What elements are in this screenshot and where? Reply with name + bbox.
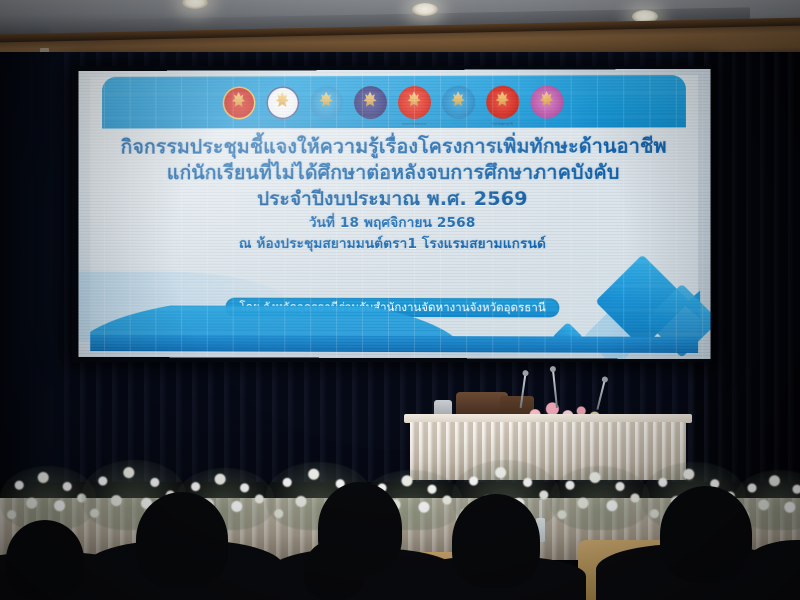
emblem-logo-4-icon <box>354 86 387 119</box>
audience-person-head <box>452 494 540 588</box>
led-screen: กรมการจัดหางาน จังหวัดอุดรธานี กิจกรรมปร… <box>78 69 710 359</box>
emblem-logo-5-caption: กรมการจัดหางาน <box>402 121 427 126</box>
conference-hall-photo: กรมการจัดหางาน จังหวัดอุดรธานี กิจกรรมปร… <box>0 0 800 600</box>
led-screen-frame: กรมการจัดหางาน จังหวัดอุดรธานี กิจกรรมปร… <box>72 66 712 362</box>
audience-person-head <box>304 540 364 600</box>
audience-person-head <box>660 486 752 582</box>
emblem-logo-2-icon <box>266 86 299 119</box>
slide-text-block: กิจกรรมประชุมชี้แจงให้ความรู้เรื่องโครงก… <box>90 133 698 255</box>
slide-title-line-1: กิจกรรมประชุมชี้แจงให้ความรู้เรื่องโครงก… <box>90 133 698 160</box>
audience-person-head <box>136 492 228 588</box>
slide-title-line-3: ประจำปีงบประมาณ พ.ศ. 2569 <box>90 186 698 213</box>
flower-clump <box>550 466 650 530</box>
emblem-logo-8-icon <box>530 85 563 118</box>
slide-wave-bar <box>90 335 698 353</box>
water-bottle-neck <box>539 500 542 520</box>
ceiling-downlight <box>412 3 438 16</box>
ceiling-downlight <box>182 0 208 9</box>
emblem-logo-7-caption: จังหวัดอุดรธานี <box>492 121 513 126</box>
emblem-logo-7-icon: จังหวัดอุดรธานี <box>486 85 519 118</box>
curtain-left-shadow <box>0 52 70 482</box>
emblem-logo-1-icon <box>222 86 255 119</box>
slide-title-line-2: แก่นักเรียนที่ไม่ได้ศึกษาต่อหลังจบการศึก… <box>90 160 698 187</box>
audience-person-head <box>6 520 84 600</box>
presentation-slide: กรมการจัดหางาน จังหวัดอุดรธานี กิจกรรมปร… <box>90 75 698 353</box>
slide-venue-line: ณ ห้องประชุมสยามมนต์ตรา1 โรงแรมสยามแกรนด… <box>90 234 698 255</box>
emblem-logo-3-icon <box>310 86 343 119</box>
emblem-logo-5-icon: กรมการจัดหางาน <box>397 85 430 118</box>
slide-logo-banner: กรมการจัดหางาน จังหวัดอุดรธานี <box>102 75 686 129</box>
slide-bottom-wave <box>90 305 698 353</box>
slide-date-line: วันที่ 18 พฤศจิกายน 2568 <box>90 213 698 234</box>
emblem-logo-6-icon <box>442 85 475 118</box>
